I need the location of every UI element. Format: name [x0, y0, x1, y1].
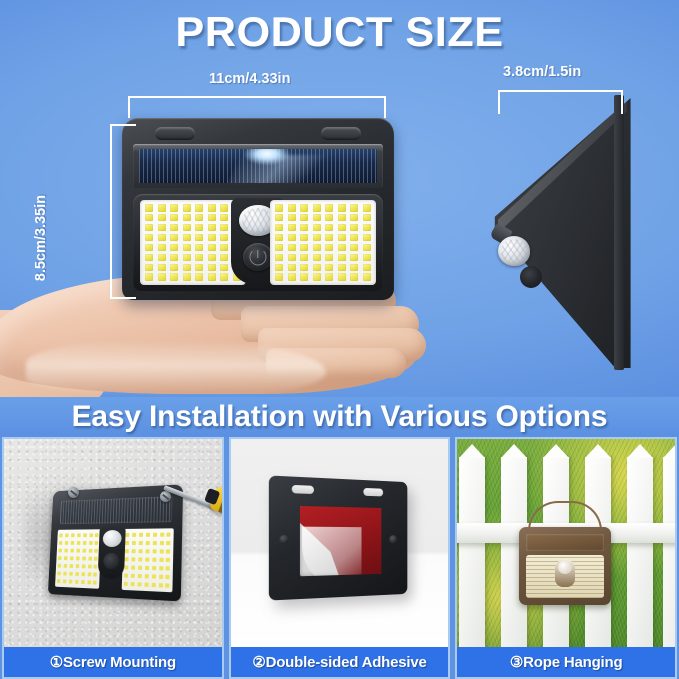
adhesive-recess	[300, 506, 381, 576]
width-dimension-line	[128, 96, 386, 98]
solar-light-angled-view	[48, 484, 183, 601]
screw-icon-left	[68, 487, 79, 498]
screw-hole-right	[389, 535, 397, 544]
adhesive-photo	[231, 439, 449, 647]
sensor-housing	[98, 527, 126, 580]
page-title: PRODUCT SIZE	[0, 8, 679, 56]
power-button[interactable]	[520, 266, 542, 288]
install-option-caption: ②Double-sided Adhesive	[231, 647, 449, 677]
height-dimension-tick-top	[110, 124, 136, 126]
mounting-tab-left	[291, 485, 313, 494]
rope-hanging-photo	[457, 439, 675, 647]
power-button[interactable]	[243, 243, 273, 271]
led-housing	[133, 194, 383, 291]
solar-panel	[139, 149, 377, 183]
fence-picket	[663, 457, 675, 647]
mounting-tab-right	[321, 127, 361, 140]
screw-icon-right	[160, 491, 171, 502]
option-number: ①	[50, 653, 63, 671]
option-number: ②	[252, 653, 265, 671]
height-dimension-tick-bottom	[110, 297, 136, 299]
solar-light-side-view	[492, 98, 632, 368]
depth-dimension-line	[498, 90, 623, 92]
depth-dimension-tick-left	[498, 90, 500, 114]
mounting-tab-right	[363, 488, 383, 497]
install-option-screw-mounting[interactable]: ①Screw Mounting	[2, 437, 224, 679]
option-label: Rope Hanging	[523, 654, 622, 671]
led-array-right	[270, 200, 376, 285]
screw-mounting-photo	[4, 439, 222, 647]
led-array-left	[55, 529, 101, 589]
fence-picket	[627, 457, 653, 647]
solar-light-hanging	[519, 527, 611, 605]
installation-options-row: ①Screw Mounting ②Double-sided Adhesive	[0, 437, 679, 679]
option-label: Double-sided Adhesive	[266, 654, 427, 671]
outdoor-scene	[457, 439, 675, 647]
solar-panel-glare	[244, 149, 290, 165]
adhesive-peel-corner	[302, 527, 362, 577]
solar-panel-frame	[133, 144, 383, 188]
height-dimension-label: 8.5cm/3.35in	[33, 178, 49, 298]
installation-banner: Easy Installation with Various Options	[0, 397, 679, 437]
palm-highlight	[26, 340, 326, 396]
install-option-caption: ①Screw Mounting	[4, 647, 222, 677]
fence-picket	[459, 457, 485, 647]
width-dimension-label: 11cm/4.33in	[209, 71, 290, 87]
mounting-tab-left	[155, 127, 195, 140]
install-option-rope-hanging[interactable]: ③Rope Hanging	[455, 437, 677, 679]
sensor-facets	[501, 239, 527, 263]
motion-sensor-icon	[555, 559, 575, 587]
option-number: ③	[510, 653, 523, 671]
height-dimension-line	[110, 124, 112, 299]
side-back-plate	[614, 95, 624, 370]
motion-sensor-icon	[498, 236, 530, 266]
screw-hole-left	[279, 535, 288, 544]
led-array-right	[122, 528, 174, 592]
motion-sensor-icon	[103, 530, 122, 547]
solar-light-front-view	[122, 118, 394, 300]
option-label: Screw Mounting	[63, 654, 176, 671]
width-dimension-tick-left	[128, 96, 130, 118]
solar-panel	[60, 496, 172, 524]
installation-banner-text: Easy Installation with Various Options	[72, 400, 608, 434]
power-button	[103, 553, 120, 569]
install-option-double-sided-adhesive[interactable]: ②Double-sided Adhesive	[229, 437, 451, 679]
depth-dimension-label: 3.8cm/1.5in	[503, 64, 581, 80]
side-wedge-body	[492, 98, 632, 368]
width-dimension-tick-right	[384, 96, 386, 118]
solar-light-rear-view	[269, 475, 407, 600]
depth-dimension-tick-right	[621, 90, 623, 114]
product-size-section: PRODUCT SIZE	[0, 0, 679, 397]
install-option-caption: ③Rope Hanging	[457, 647, 675, 677]
solar-panel	[526, 534, 604, 551]
